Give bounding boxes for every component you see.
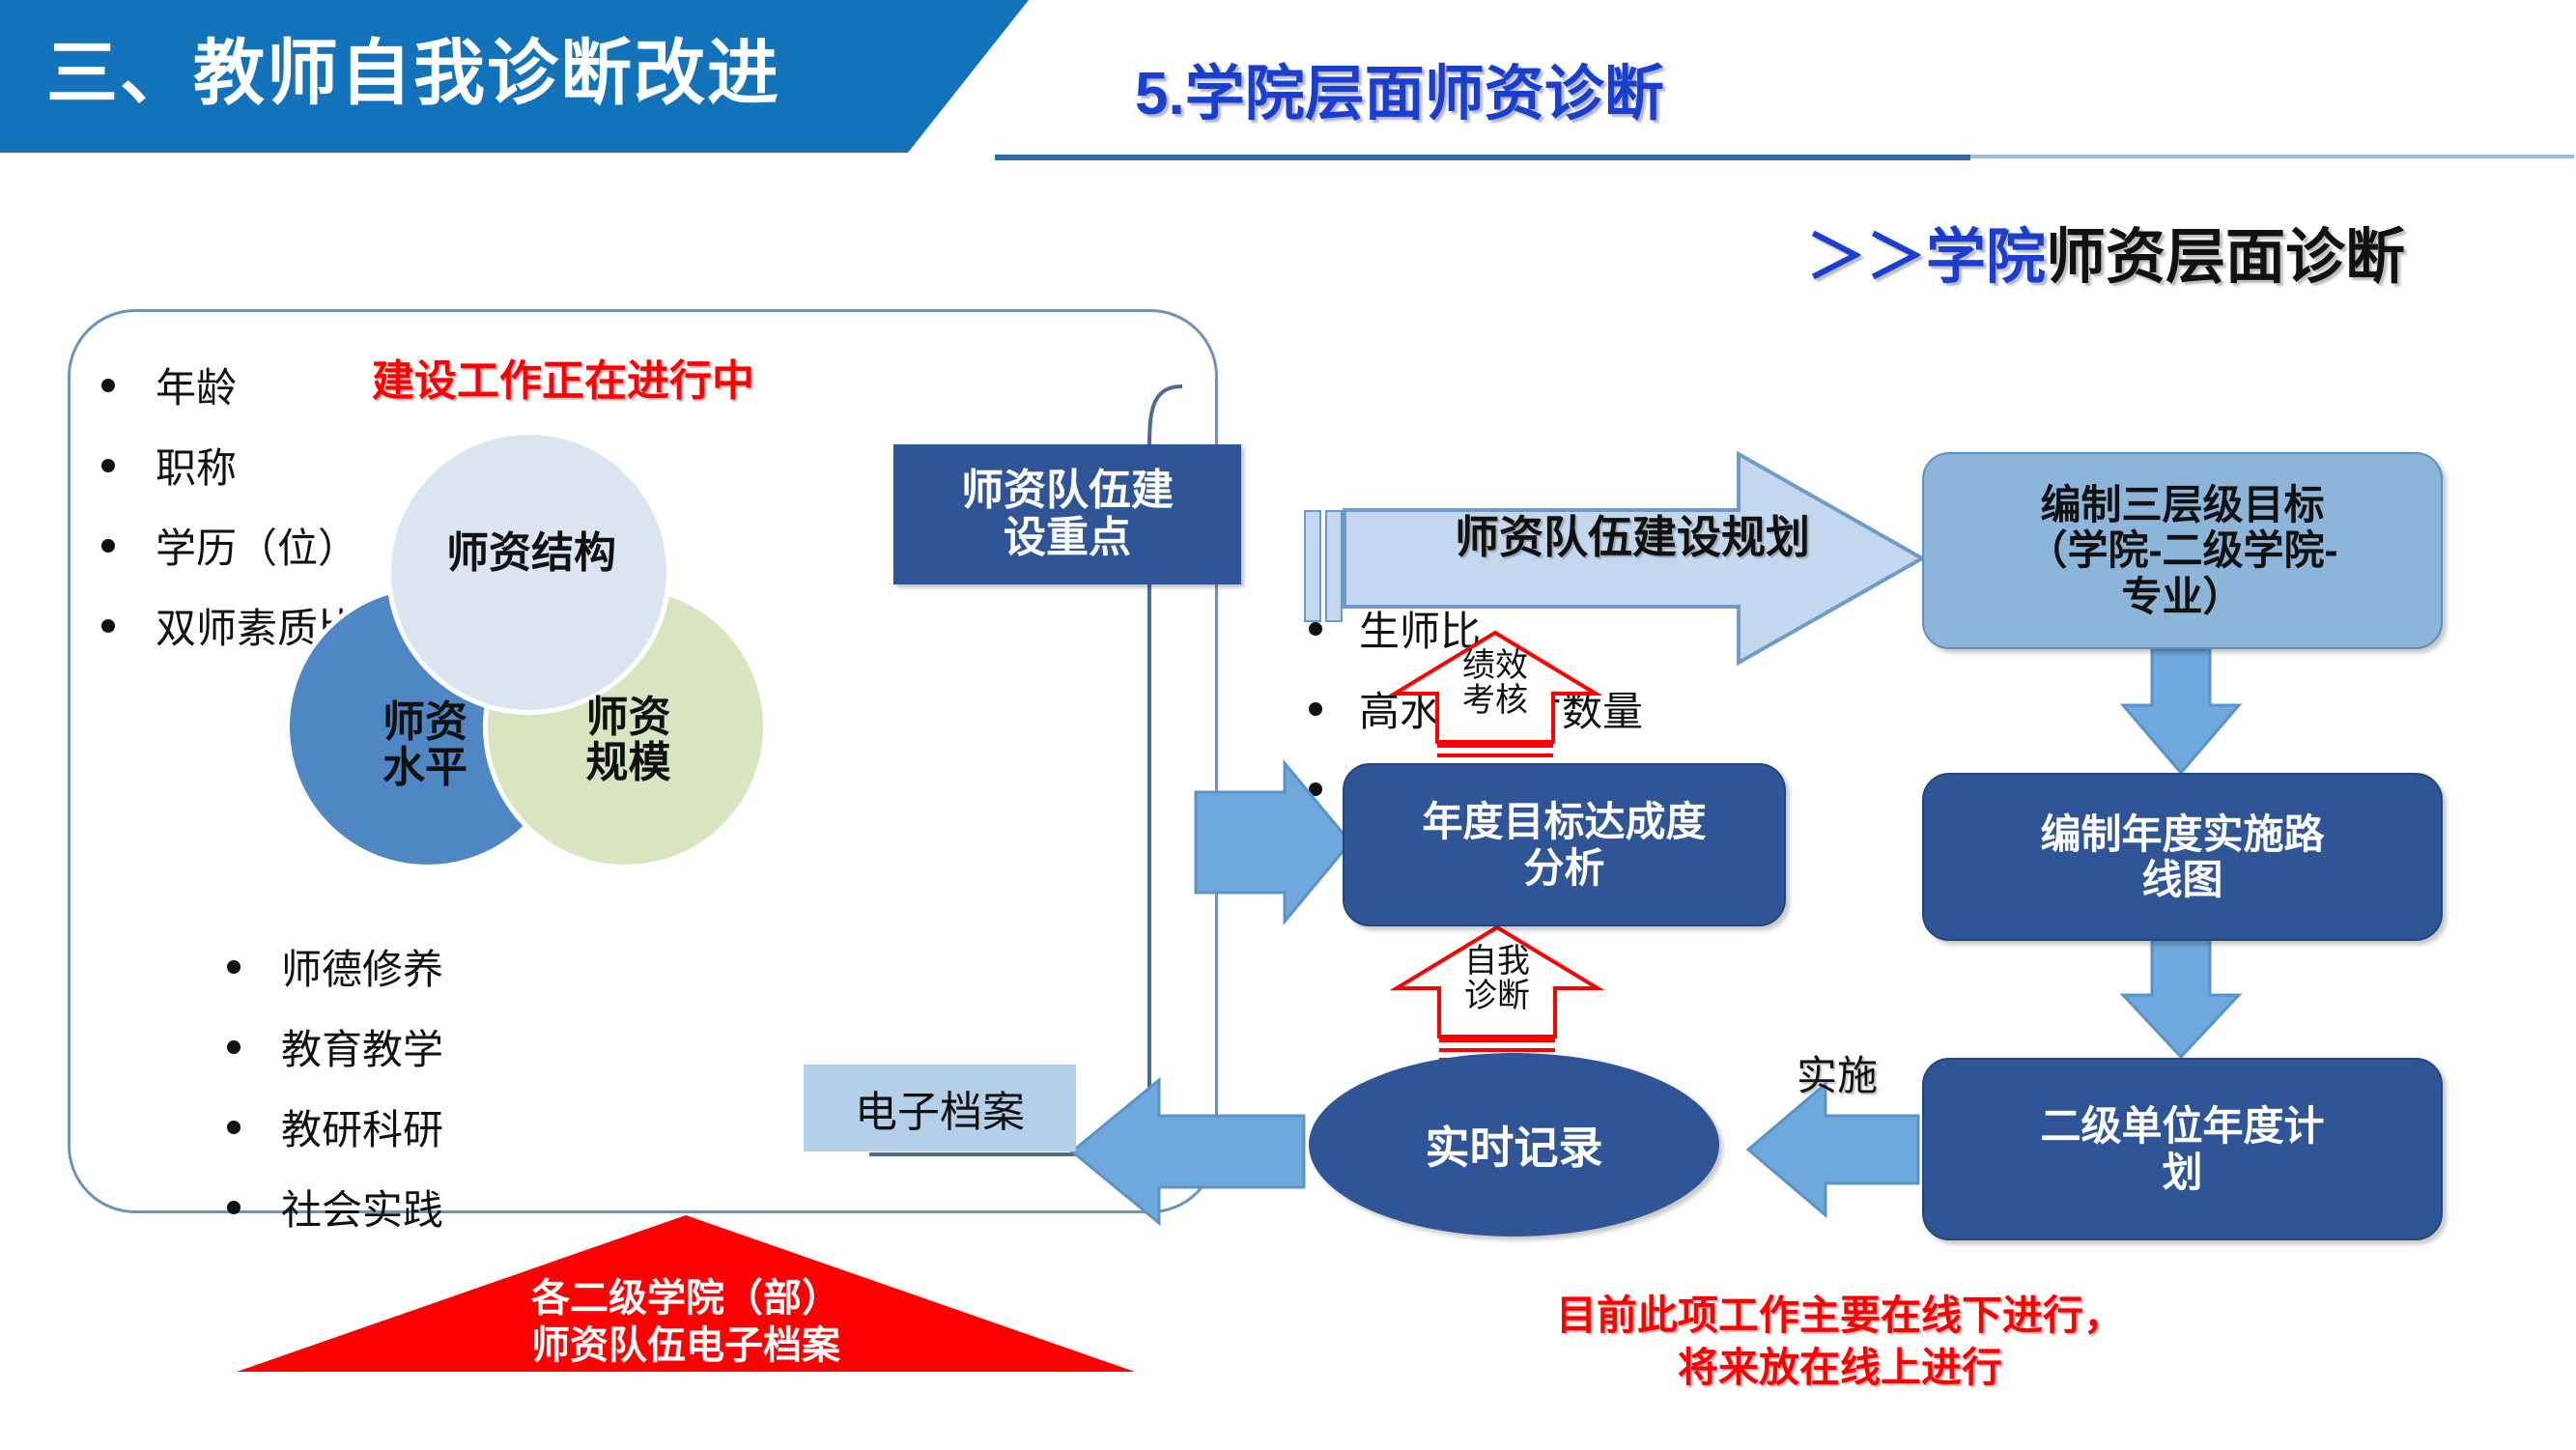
venn-label-scale: 师资 规模 (524, 696, 732, 785)
list-item: 社会实践 (227, 1178, 443, 1237)
arrow-stub-2 (1325, 510, 1343, 622)
slide-title: 5.学院层面师资诊断 (1135, 44, 1664, 131)
red-triangle-label: 各二级学院（部） 师资队伍电子档案 (415, 1275, 956, 1370)
electronic-archive-box[interactable]: 电子档案 (804, 1065, 1076, 1151)
annual-goal-analysis-box[interactable]: 年度目标达成度 分析 (1343, 763, 1786, 926)
title-underline-secondary (1970, 155, 2574, 158)
bullet-label: 教育教学 (281, 1017, 443, 1076)
progress-note: 建设工作正在进行中 (372, 346, 754, 408)
unit-annual-plan-box[interactable]: 二级单位年度计 划 (1922, 1058, 2443, 1240)
bullet-label: 社会实践 (281, 1178, 443, 1237)
bullet-label: 年龄 (156, 355, 237, 414)
goal-box[interactable]: 编制三层级目标 （学院-二级学院- 专业） (1922, 452, 2443, 649)
subtitle: ＞＞学院师资层面诊断 (1806, 208, 2405, 295)
key-focus-box[interactable]: 师资队伍建 设重点 (893, 444, 1241, 584)
bullet-dot-icon (1309, 863, 1322, 876)
bullet-dot-icon (101, 459, 115, 472)
bullet-dot-icon (1309, 782, 1322, 796)
arrow-stub-1 (1304, 510, 1321, 622)
bullet-dot-icon (227, 960, 241, 974)
bullet-label: 师德修养 (281, 937, 443, 996)
bullet-label: 职称 (156, 436, 237, 495)
bullet-label: 教研科研 (281, 1097, 443, 1156)
list-item: 师德修养 (227, 937, 443, 996)
subtitle-rest: 师资层面诊断 (2046, 224, 2405, 291)
performance-review-label: 绩效 考核 (1437, 649, 1553, 718)
bullet-dot-icon (1309, 622, 1322, 636)
bullet-dot-icon (101, 619, 115, 633)
realtime-record-ellipse[interactable]: 实时记录 (1309, 1053, 1719, 1237)
subtitle-prefix: ＞＞学院 (1806, 224, 2046, 291)
list-item: 年龄 (101, 355, 399, 414)
bullet-dot-icon (101, 379, 115, 392)
plan-arrow-label: 师资队伍建设规划 (1381, 502, 1883, 566)
venn-label-structure: 师资结构 (406, 531, 657, 577)
implement-left-arrow (1748, 1084, 1918, 1215)
venn-diagram: 师资 水平 师资 规模 师资结构 (285, 430, 778, 874)
section-title: 三、教师自我诊断改进 (46, 25, 916, 122)
bullet-dot-icon (1309, 702, 1322, 716)
down-arrow-route-plan (2123, 939, 2239, 1057)
down-arrow-goal-route (2123, 649, 2239, 773)
bullet-dot-icon (227, 1121, 241, 1134)
self-diagnosis-label: 自我 诊断 (1439, 945, 1555, 1013)
list-item: 教研科研 (227, 1097, 443, 1156)
implement-label: 实施 (1797, 1043, 1878, 1102)
bullet-dot-icon (101, 539, 115, 553)
bullet-dot-icon (227, 1201, 241, 1214)
bottom-red-note: 目前此项工作主要在线下进行， 将来放在线上进行 (1487, 1290, 2193, 1394)
list-item: 教育教学 (227, 1017, 443, 1076)
venn-label-level: 师资 水平 (304, 700, 546, 790)
bullet-list-quality: 师德修养 教育教学 教研科研 社会实践 (227, 937, 443, 1258)
bullet-dot-icon (227, 1040, 241, 1054)
route-map-box[interactable]: 编制年度实施路 线图 (1922, 773, 2443, 941)
title-underline (995, 155, 1970, 160)
